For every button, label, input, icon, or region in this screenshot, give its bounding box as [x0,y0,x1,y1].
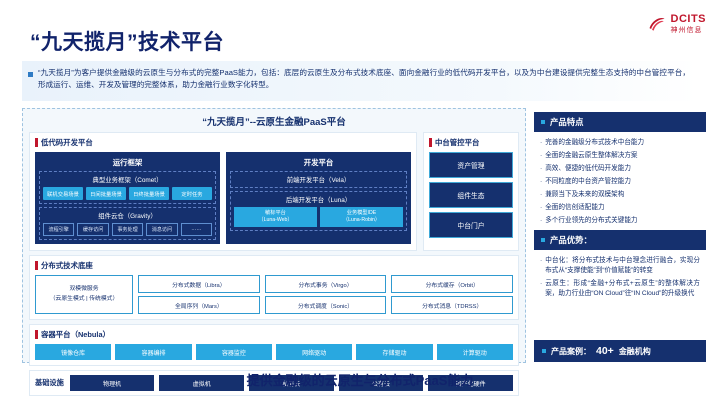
intro-banner: “九天揽月”为客户提供金融级的云原生与分布式的完整PaaS能力，包括：底层的云原… [22,61,698,101]
dual-mode-microservice[interactable]: 双模微服务 （云原生模式 | 传统模式） [35,275,133,314]
container-item[interactable]: 镜像仓库 [35,344,111,360]
list-item-label: 多个行业领先的分布式关键能力 [545,216,637,226]
middle-platform-card: 中台管控平台 资产管理 组件生态 中台门户 [423,132,519,251]
tag-item[interactable]: 敏标平台 （Luna-Web） [234,207,317,227]
square-bullet-icon [28,72,33,77]
gravity-label: 组件云仓（Gravity） [43,211,212,223]
tag-item[interactable]: 日间批量场景 [86,187,126,200]
tag-line-2: （Luna-Web） [235,217,316,224]
tag-line-1: 业务模型IDE [321,210,402,217]
base-item[interactable]: 分布式事务（Virgo） [265,275,387,293]
tag-item[interactable]: 定时任务 [172,187,212,200]
square-bullet-icon [541,120,545,124]
container-item[interactable]: 存储驱动 [356,344,432,360]
advantages-panel-title: 产品优势： [550,234,592,246]
tag-item[interactable]: 事务处理 [112,223,143,236]
tag-item[interactable]: 日终批量场景 [129,187,169,200]
list-item: ·全面的金融云原生整体解决方案 [540,151,700,161]
tag-item[interactable]: 消息访问 [146,223,177,236]
container-item[interactable]: 计算驱动 [437,344,513,360]
diagram-title: “九天揽月”--云原生金融PaaS平台 [23,109,525,132]
product-features-panel: 产品特点 ·完善的金融级分布式技术中台能力 ·全面的金融云原生整体解决方案 ·高… [534,112,706,247]
dot-bullet-icon: · [540,177,542,187]
dot-bullet-icon: · [540,203,542,213]
container-section-title: 容器平台（Nebula） [41,329,110,340]
midctl-item[interactable]: 资产管理 [429,152,513,178]
distributed-base-card: 分布式技术底座 双模微服务 （云原生模式 | 传统模式） 分布式数据（Libra… [29,255,519,320]
lowcode-section-title: 低代码开发平台 [41,137,93,148]
case-count: 40+ [596,345,614,357]
list-item-label: 高效、便捷的低代码开发能力 [545,164,631,174]
dot-bullet-icon: · [540,164,542,174]
list-item: ·全面的信创适配能力 [540,203,700,213]
list-item: ·多个行业领先的分布式关键能力 [540,216,700,226]
list-item-label: 全面的信创适配能力 [545,203,604,213]
comet-group: 典型业务框架（Comet） 联机交易场景 日间批量场景 日终批量场景 定时任务 [39,171,216,204]
list-item-label: 兼顾当下及未来的双模架构 [545,190,624,200]
diagram-top-row: 低代码开发平台 运行框架 典型业务框架（Comet） 联机交易场景 日间批量场景… [29,132,519,251]
section-marker-icon [429,138,432,147]
luna-tag-row: 敏标平台 （Luna-Web） 业务模型IDE （Luna-Robin） [234,207,403,227]
list-item: ·不同粒度的中台资产管控能力 [540,177,700,187]
tag-line-1: 敏标平台 [235,210,316,217]
dual-line-1: 双模微服务 [38,285,130,294]
case-label: 产品案例： [551,346,591,357]
development-platform-panel: 开发平台 前端开发平台（Vela） 后端开发平台（Luna） 敏标平台 （Lun… [226,152,411,244]
list-item: ·中台化：将分布式技术与中台理念进行融合，实现分布式从“支撑使能”到“价值赋能”… [540,256,700,276]
midctl-section-header: 中台管控平台 [429,137,513,148]
container-item[interactable]: 容器监控 [196,344,272,360]
luna-group: 后端开发平台（Luna） 敏标平台 （Luna-Web） 业务模型IDE （Lu… [230,191,407,231]
logo-en-text: DCITS [671,14,707,25]
base-section-title: 分布式技术底座 [41,260,93,271]
section-marker-icon [35,330,38,339]
features-panel-title: 产品特点 [550,116,584,128]
list-item-label: 完善的金融级分布式技术中台能力 [545,138,644,148]
features-panel-header: 产品特点 [534,112,706,132]
comet-label: 典型业务框架（Comet） [43,175,212,187]
brand-logo: DCITS 神州信息 [647,14,707,34]
tag-item[interactable]: 业务模型IDE （Luna-Robin） [320,207,403,227]
list-item: ·完善的金融级分布式技术中台能力 [540,138,700,148]
lowcode-platform-card: 低代码开发平台 运行框架 典型业务框架（Comet） 联机交易场景 日间批量场景… [29,132,417,251]
tag-item[interactable]: 联机交易场景 [43,187,83,200]
dot-bullet-icon: · [540,151,542,161]
section-marker-icon [35,261,38,270]
container-section-header: 容器平台（Nebula） [35,329,513,340]
case-suffix: 金融机构 [619,346,651,357]
midctl-item[interactable]: 中台门户 [429,212,513,238]
dot-bullet-icon: · [540,138,542,148]
base-section-header: 分布式技术底座 [35,260,513,271]
product-case-banner: 产品案例： 40+ 金融机构 [534,340,706,362]
base-column: 分布式事务（Virgo） 分布式调度（Sonic） [265,275,387,314]
runtime-framework-panel: 运行框架 典型业务框架（Comet） 联机交易场景 日间批量场景 日终批量场景 … [35,152,220,244]
logo-text: DCITS 神州信息 [671,14,707,34]
intro-text: “九天揽月”为客户提供金融级的云原生与分布式的完整PaaS能力，包括：底层的云原… [38,67,690,101]
lowcode-columns: 运行框架 典型业务框架（Comet） 联机交易场景 日间批量场景 日终批量场景 … [35,152,411,244]
midctl-item[interactable]: 组件生态 [429,182,513,208]
base-item[interactable]: 分布式缓存（Orbit） [391,275,513,293]
tag-item-more[interactable]: …… [181,223,212,236]
list-item-label: 全面的金融云原生整体解决方案 [545,151,637,161]
base-item[interactable]: 分布式调度（Sonic） [265,296,387,314]
base-column: 分布式缓存（Orbit） 分布式消息（TDRSS） [391,275,513,314]
base-column: 分布式数据（Libra） 全局序列（Mars） [138,275,260,314]
advantages-panel-body: ·中台化：将分布式技术与中台理念进行融合，实现分布式从“支撑使能”到“价值赋能”… [534,250,706,306]
development-platform-title: 开发平台 [230,155,407,171]
list-item: ·云原生：形成“金融+分布式+云原生”的整体解决方案，助力行业由“ON Clou… [540,279,700,299]
container-items-row: 镜像仓库 容器编排 容器监控 网络驱动 存储驱动 计算驱动 [35,344,513,360]
vela-group: 前端开发平台（Vela） [230,171,407,188]
section-marker-icon [35,138,38,147]
page-header: “九天揽月”技术平台 DCITS 神州信息 [0,0,720,58]
footer-tagline: 提供金融级的云原生与分布式PaaS能力 [0,370,720,389]
list-item-label: 云原生：形成“金融+分布式+云原生”的整体解决方案，助力行业由“ON Cloud… [545,279,700,299]
gravity-tag-row: 流程引擎 缓存访问 事务处理 消息访问 …… [43,223,212,236]
list-item-label: 中台化：将分布式技术与中台理念进行融合，实现分布式从“支撑使能”到“价值赋能”的… [545,256,700,276]
container-platform-card: 容器平台（Nebula） 镜像仓库 容器编排 容器监控 网络驱动 存储驱动 计算… [29,324,519,366]
logo-cn-text: 神州信息 [671,27,707,34]
product-advantages-panel: 产品优势： ·中台化：将分布式技术与中台理念进行融合，实现分布式从“支撑使能”到… [534,230,706,306]
base-item[interactable]: 分布式数据（Libra） [138,275,260,293]
square-bullet-icon [542,349,546,353]
luna-label: 后端开发平台（Luna） [234,195,403,207]
tag-item[interactable]: 缓存访问 [77,223,108,236]
container-item[interactable]: 容器编排 [115,344,191,360]
dot-bullet-icon: · [540,216,542,226]
dual-line-2: （云原生模式 | 传统模式） [38,295,130,304]
base-item[interactable]: 分布式消息（TDRSS） [391,296,513,314]
square-bullet-icon [541,238,545,242]
runtime-framework-title: 运行框架 [39,155,216,171]
architecture-diagram: “九天揽月”--云原生金融PaaS平台 低代码开发平台 运行框架 典型业务框架（… [22,108,526,363]
advantages-panel-header: 产品优势： [534,230,706,250]
list-item-label: 不同粒度的中台资产管控能力 [545,177,631,187]
dot-bullet-icon: · [540,190,542,200]
page-title: “九天揽月”技术平台 [30,26,224,56]
container-item[interactable]: 网络驱动 [276,344,352,360]
dot-bullet-icon: · [540,256,542,276]
swoosh-logo-icon [647,14,667,34]
list-item: ·兼顾当下及未来的双模架构 [540,190,700,200]
midctl-section-title: 中台管控平台 [435,137,479,148]
list-item: ·高效、便捷的低代码开发能力 [540,164,700,174]
tag-line-2: （Luna-Robin） [321,217,402,224]
comet-tag-row: 联机交易场景 日间批量场景 日终批量场景 定时任务 [43,187,212,200]
gravity-group: 组件云仓（Gravity） 流程引擎 缓存访问 事务处理 消息访问 …… [39,207,216,240]
base-grid: 双模微服务 （云原生模式 | 传统模式） 分布式数据（Libra） 全局序列（M… [35,275,513,314]
base-item[interactable]: 全局序列（Mars） [138,296,260,314]
lowcode-section-header: 低代码开发平台 [35,137,411,148]
vela-label: 前端开发平台（Vela） [234,175,403,184]
tag-item[interactable]: 流程引擎 [43,223,74,236]
dot-bullet-icon: · [540,279,542,299]
